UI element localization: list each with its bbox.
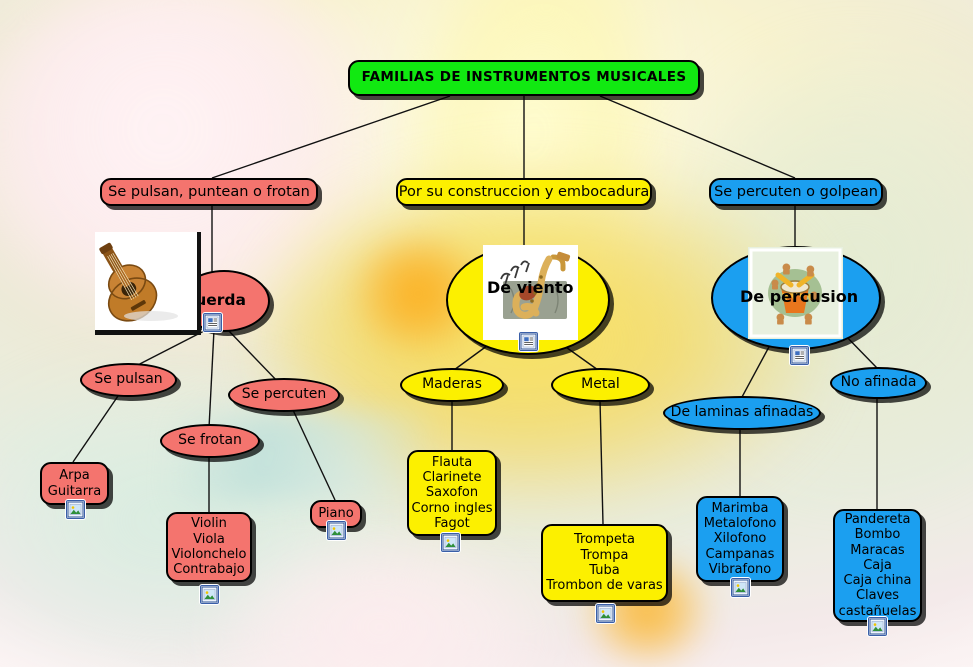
subgroup-node-se-frotan[interactable]: Se frotan bbox=[160, 424, 260, 458]
criterion-percussion-label: Se percuten o golpean bbox=[714, 184, 878, 200]
link-sepercuten-to-piano bbox=[293, 410, 335, 500]
criterion-node-strings[interactable]: Se pulsan, puntean o frotan bbox=[100, 178, 318, 206]
subgroup-node-maderas[interactable]: Maderas bbox=[400, 368, 504, 402]
drum-image bbox=[748, 247, 843, 339]
leaf-node-maderas[interactable]: Flauta Clarinete Saxofon Corno ingles Fa… bbox=[407, 450, 497, 536]
criterion-wind-label: Por su construccion y embocadura bbox=[399, 184, 650, 200]
picture-attachment-icon-violin[interactable] bbox=[200, 585, 219, 604]
picture-attachment-icon-arpa[interactable] bbox=[66, 500, 85, 519]
subgroup-laminas-label: De laminas afinadas bbox=[671, 405, 814, 421]
document-attachment-icon-cuerda[interactable] bbox=[203, 313, 222, 332]
root-node-label: FAMILIAS DE INSTRUMENTOS MUSICALES bbox=[362, 70, 687, 85]
link-metal-to-leaf bbox=[600, 400, 603, 524]
leaf-metal-text: Trompeta Trompa Tuba Trombon de varas bbox=[546, 532, 662, 593]
leaf-node-arpa-guitarra[interactable]: Arpa Guitarra bbox=[40, 462, 109, 505]
link-cuerda-to-sepercuten bbox=[228, 330, 281, 385]
leaf-laminas-text: Marimba Metalofono Xilofono Campanas Vib… bbox=[704, 501, 777, 578]
criterion-node-wind[interactable]: Por su construccion y embocadura bbox=[396, 178, 652, 206]
acoustic-guitar-image bbox=[95, 232, 201, 335]
leaf-piano-text: Piano bbox=[318, 506, 353, 521]
criterion-strings-label: Se pulsan, puntean o frotan bbox=[108, 184, 310, 200]
leaf-violin-text: Violin Viola Violonchelo Contrabajo bbox=[172, 516, 247, 577]
subgroup-no-afinada-label: No afinada bbox=[841, 375, 917, 391]
subgroup-se-percuten-label: Se percuten bbox=[242, 387, 326, 403]
document-attachment-icon-viento[interactable] bbox=[519, 332, 538, 351]
subgroup-se-frotan-label: Se frotan bbox=[178, 433, 242, 449]
picture-attachment-icon-laminas[interactable] bbox=[731, 578, 750, 597]
subgroup-node-no-afinada[interactable]: No afinada bbox=[830, 367, 927, 399]
criterion-node-percussion[interactable]: Se percuten o golpean bbox=[709, 178, 883, 206]
link-root-to-strings bbox=[212, 96, 450, 178]
picture-attachment-icon-no-afinada[interactable] bbox=[868, 617, 887, 636]
link-sepulsan-to-arpa bbox=[73, 396, 118, 462]
picture-attachment-icon-metal[interactable] bbox=[596, 604, 615, 623]
leaf-node-cuerda-frotada[interactable]: Violin Viola Violonchelo Contrabajo bbox=[166, 512, 252, 582]
leaf-node-laminas-afinadas[interactable]: Marimba Metalofono Xilofono Campanas Vib… bbox=[696, 496, 784, 582]
leaf-arpa-guitarra-text: Arpa Guitarra bbox=[48, 468, 101, 499]
link-root-to-percussion bbox=[600, 96, 795, 178]
subgroup-se-pulsan-label: Se pulsan bbox=[94, 372, 162, 388]
link-cuerda-to-sefrotan bbox=[209, 330, 214, 428]
leaf-node-no-afinada[interactable]: Pandereta Bombo Maracas Caja Caja china … bbox=[833, 509, 922, 622]
saxophone-image bbox=[483, 245, 578, 340]
leaf-no-afinada-text: Pandereta Bombo Maracas Caja Caja china … bbox=[839, 512, 917, 619]
subgroup-node-se-percuten[interactable]: Se percuten bbox=[228, 378, 340, 412]
subgroup-metal-label: Metal bbox=[581, 377, 620, 393]
leaf-node-metal[interactable]: Trompeta Trompa Tuba Trombon de varas bbox=[541, 524, 668, 602]
link-percusion-to-laminas bbox=[742, 345, 770, 397]
leaf-maderas-text: Flauta Clarinete Saxofon Corno ingles Fa… bbox=[412, 455, 493, 532]
picture-attachment-icon-piano[interactable] bbox=[327, 521, 346, 540]
subgroup-node-laminas-afinadas[interactable]: De laminas afinadas bbox=[663, 396, 821, 430]
subgroup-maderas-label: Maderas bbox=[422, 377, 482, 393]
root-node-familias[interactable]: FAMILIAS DE INSTRUMENTOS MUSICALES bbox=[348, 60, 700, 96]
picture-attachment-icon-maderas[interactable] bbox=[441, 533, 460, 552]
document-attachment-icon-percusion[interactable] bbox=[790, 346, 809, 365]
subgroup-node-metal[interactable]: Metal bbox=[551, 368, 650, 402]
concept-map-canvas: FAMILIAS DE INSTRUMENTOS MUSICALES Se pu… bbox=[0, 0, 973, 667]
subgroup-node-se-pulsan[interactable]: Se pulsan bbox=[80, 363, 177, 397]
